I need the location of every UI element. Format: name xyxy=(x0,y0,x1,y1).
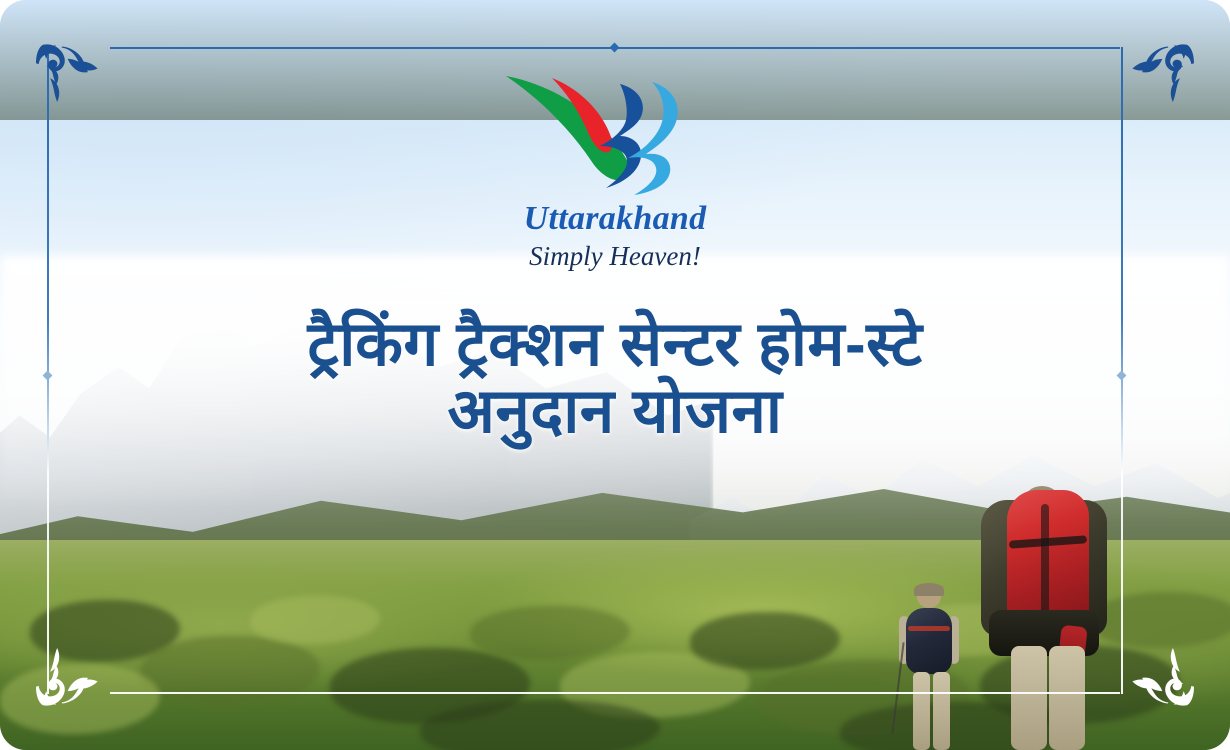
hiker-with-red-backpack xyxy=(975,486,1115,750)
headline-line-2: अनुदान योजना xyxy=(0,379,1230,446)
hiker-pack-strap xyxy=(908,626,950,631)
poster-headline: ट्रैकिंग ट्रैक्शन सेन्टर होम-स्टे अनुदान… xyxy=(0,312,1230,446)
floral-filigree-corner-icon xyxy=(36,626,124,714)
logo-wordmark: Uttarakhand xyxy=(0,200,1230,238)
uttarakhand-bird-logo-icon xyxy=(500,66,730,196)
headline-line-1: ट्रैकिंग ट्रैक्शन सेन्टर होम-स्टे xyxy=(0,312,1230,379)
hiker-leg-right xyxy=(1049,646,1085,750)
hiker-with-dark-backpack xyxy=(895,586,965,750)
floral-filigree-corner-icon xyxy=(1106,626,1194,714)
hiker-leg-left xyxy=(1011,646,1047,750)
logo-tagline: Simply Heaven! xyxy=(0,241,1230,272)
hiker-hat xyxy=(914,583,944,596)
poster-canvas: Uttarakhand Simply Heaven! ट्रैकिंग ट्रै… xyxy=(0,0,1230,750)
hiker-backpack-dark xyxy=(906,608,952,674)
hiker-leg-left xyxy=(913,672,930,750)
hiker-leg-right xyxy=(933,672,950,750)
uttarakhand-tourism-logo: Uttarakhand Simply Heaven! xyxy=(0,66,1230,272)
